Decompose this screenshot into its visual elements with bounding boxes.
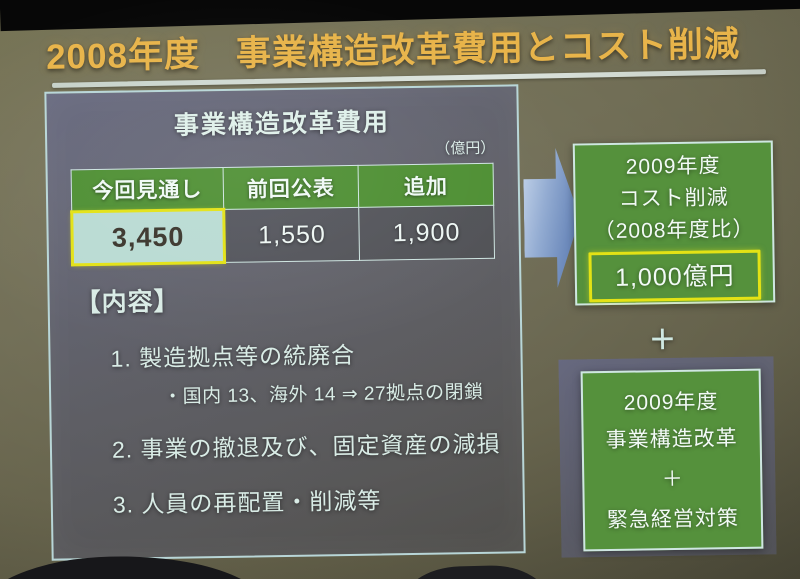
content-item-1-sub: ・国内 13、海外 14 ⇒ 27拠点の閉鎖: [77, 377, 507, 411]
content-item-2-text: 事業の撤退及び、固定資産の減損: [140, 431, 500, 463]
cost-reduction-amount: 1,000億円: [588, 250, 761, 303]
content-section: 【内容】 1. 製造拠点等の統廃合 ・国内 13、海外 14 ⇒ 27拠点の閉鎖…: [75, 277, 509, 521]
table-cell-additional: 1,900: [359, 205, 495, 260]
cost-reduction-basis: （2008年度比）: [576, 218, 772, 242]
cost-reduction-year: 2009年度: [575, 154, 771, 178]
table-cell-previous: 1,550: [224, 207, 360, 262]
reform-label: 事業構造改革: [584, 428, 760, 452]
content-item-2: 2. 事業の撤退及び、固定資産の減損: [78, 425, 508, 466]
table-row: 3,450 1,550 1,900: [72, 205, 495, 265]
reform-year: 2009年度: [583, 391, 759, 415]
table-header-row: 今回見通し 前回公表 追加: [71, 163, 494, 212]
content-item-3-text: 人員の再配置・削減等: [141, 488, 381, 518]
emergency-measures-label: 緊急経営対策: [585, 508, 761, 532]
unit-label: （億円）: [435, 137, 495, 159]
table-header-previous: 前回公表: [223, 165, 359, 209]
cost-reduction-label: コスト削減: [575, 186, 771, 210]
presentation-photo: 2008年度 事業構造改革費用とコスト削減 事業構造改革費用 （億円） 今回見通…: [0, 0, 800, 579]
content-item-1-text: 製造拠点等の統廃合: [139, 342, 355, 371]
table-header-additional: 追加: [358, 163, 494, 207]
cost-table: 今回見通し 前回公表 追加 3,450 1,550 1,900: [70, 163, 495, 267]
content-item-1: 1. 製造拠点等の統廃合: [76, 334, 506, 375]
table-header-current: 今回見通し: [71, 167, 224, 211]
reform-plus-icon: ＋: [584, 462, 760, 495]
table-cell-current-highlighted: 3,450: [72, 209, 225, 264]
cost-detail-panel: 事業構造改革費用 （億円） 今回見通し 前回公表 追加 3,450 1,550 …: [44, 84, 525, 560]
content-item-3: 3. 人員の再配置・削減等: [79, 480, 509, 521]
content-item-1-label: 1.: [110, 345, 132, 371]
plus-connector-icon: ＋: [649, 318, 677, 357]
content-item-3-label: 3.: [113, 491, 135, 517]
reform-measures-box: 2009年度 事業構造改革 ＋ 緊急経営対策: [581, 369, 764, 552]
content-item-2-label: 2.: [112, 436, 134, 462]
content-heading: 【内容】: [75, 277, 506, 320]
cost-reduction-box: 2009年度 コスト削減 （2008年度比） 1,000億円: [573, 140, 776, 305]
